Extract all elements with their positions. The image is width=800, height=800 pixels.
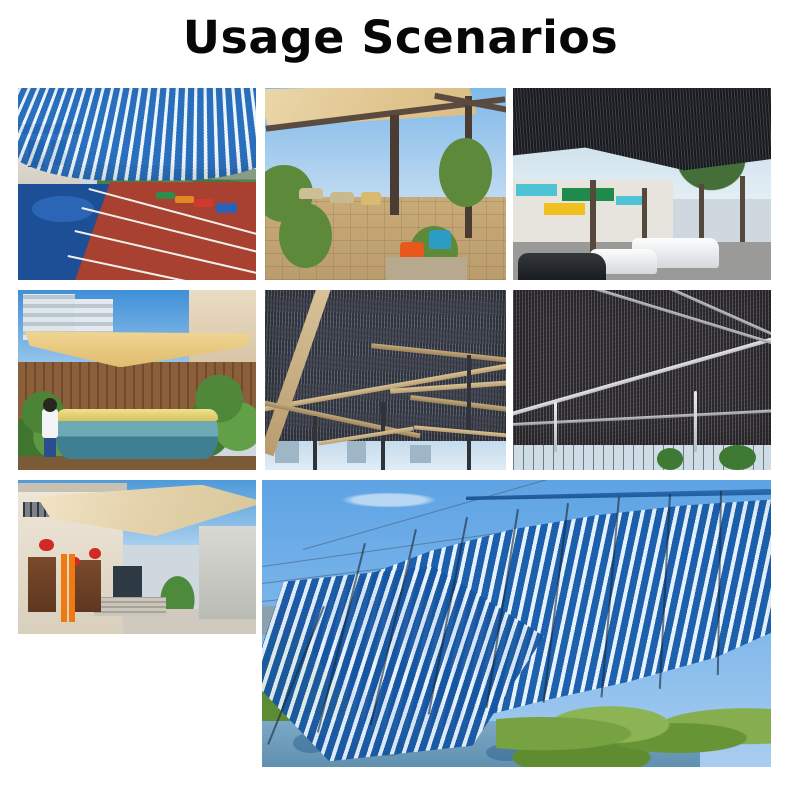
blue-bucket: [429, 230, 451, 249]
title-bar: Usage Scenarios: [0, 14, 800, 61]
shop-sign: [516, 184, 557, 196]
shop-sign: [544, 203, 585, 215]
page-title: Usage Scenarios: [182, 14, 617, 61]
play-block: [216, 203, 237, 213]
gallery-photo-steel-greenhouse[interactable]: [513, 290, 771, 470]
gallery-photo-arched-tunnel-feature[interactable]: [262, 480, 771, 767]
usage-scenarios-page: Usage Scenarios: [0, 0, 800, 800]
metal-post: [381, 402, 385, 470]
metal-post: [313, 416, 316, 470]
support-post: [699, 184, 704, 245]
greenhouse-plant: [719, 445, 755, 470]
parked-car: [518, 253, 606, 280]
front-door: [75, 560, 101, 612]
window-dark: [113, 566, 142, 597]
distant-buildings: [347, 438, 366, 463]
orange-ladder: [69, 554, 75, 622]
steel-pipe-vertical: [554, 402, 557, 452]
play-block: [175, 196, 194, 204]
gallery-photo-wood-greenhouse[interactable]: [265, 290, 506, 470]
steel-pipe-vertical: [694, 391, 697, 452]
vine-foliage: [439, 138, 492, 207]
distant-buildings: [410, 445, 432, 463]
planter-pot: [299, 188, 323, 200]
distant-buildings: [275, 441, 299, 463]
support-post: [740, 176, 745, 241]
stone-table: [386, 257, 468, 280]
pergola-post: [390, 115, 398, 215]
entry-steps: [94, 597, 165, 615]
pool-rim: [56, 409, 218, 422]
support-post: [590, 180, 595, 257]
metal-post: [467, 355, 470, 470]
red-lantern: [89, 548, 101, 559]
orange-ladder: [61, 554, 67, 622]
child-body: [42, 409, 59, 438]
gallery-photo-pool-yard[interactable]: [18, 290, 256, 470]
front-door: [28, 557, 57, 612]
right-wall: [199, 526, 256, 618]
gallery-photo-patio-pergola[interactable]: [265, 88, 506, 280]
planter-pot: [330, 192, 354, 204]
play-block: [194, 199, 213, 207]
gallery-photo-school-track[interactable]: [18, 88, 256, 280]
red-lantern: [39, 539, 53, 551]
blue-shade-net-canopy: [18, 88, 256, 181]
roof-edge: [18, 483, 127, 492]
gallery-photo-street-parking[interactable]: [513, 88, 771, 280]
cloud: [333, 491, 445, 508]
shop-sign: [562, 188, 614, 201]
kettle: [361, 192, 380, 205]
gallery-photo-courtyard[interactable]: [18, 480, 256, 634]
play-block: [156, 192, 175, 200]
shop-sign: [616, 196, 642, 206]
trees-right: [496, 704, 771, 767]
